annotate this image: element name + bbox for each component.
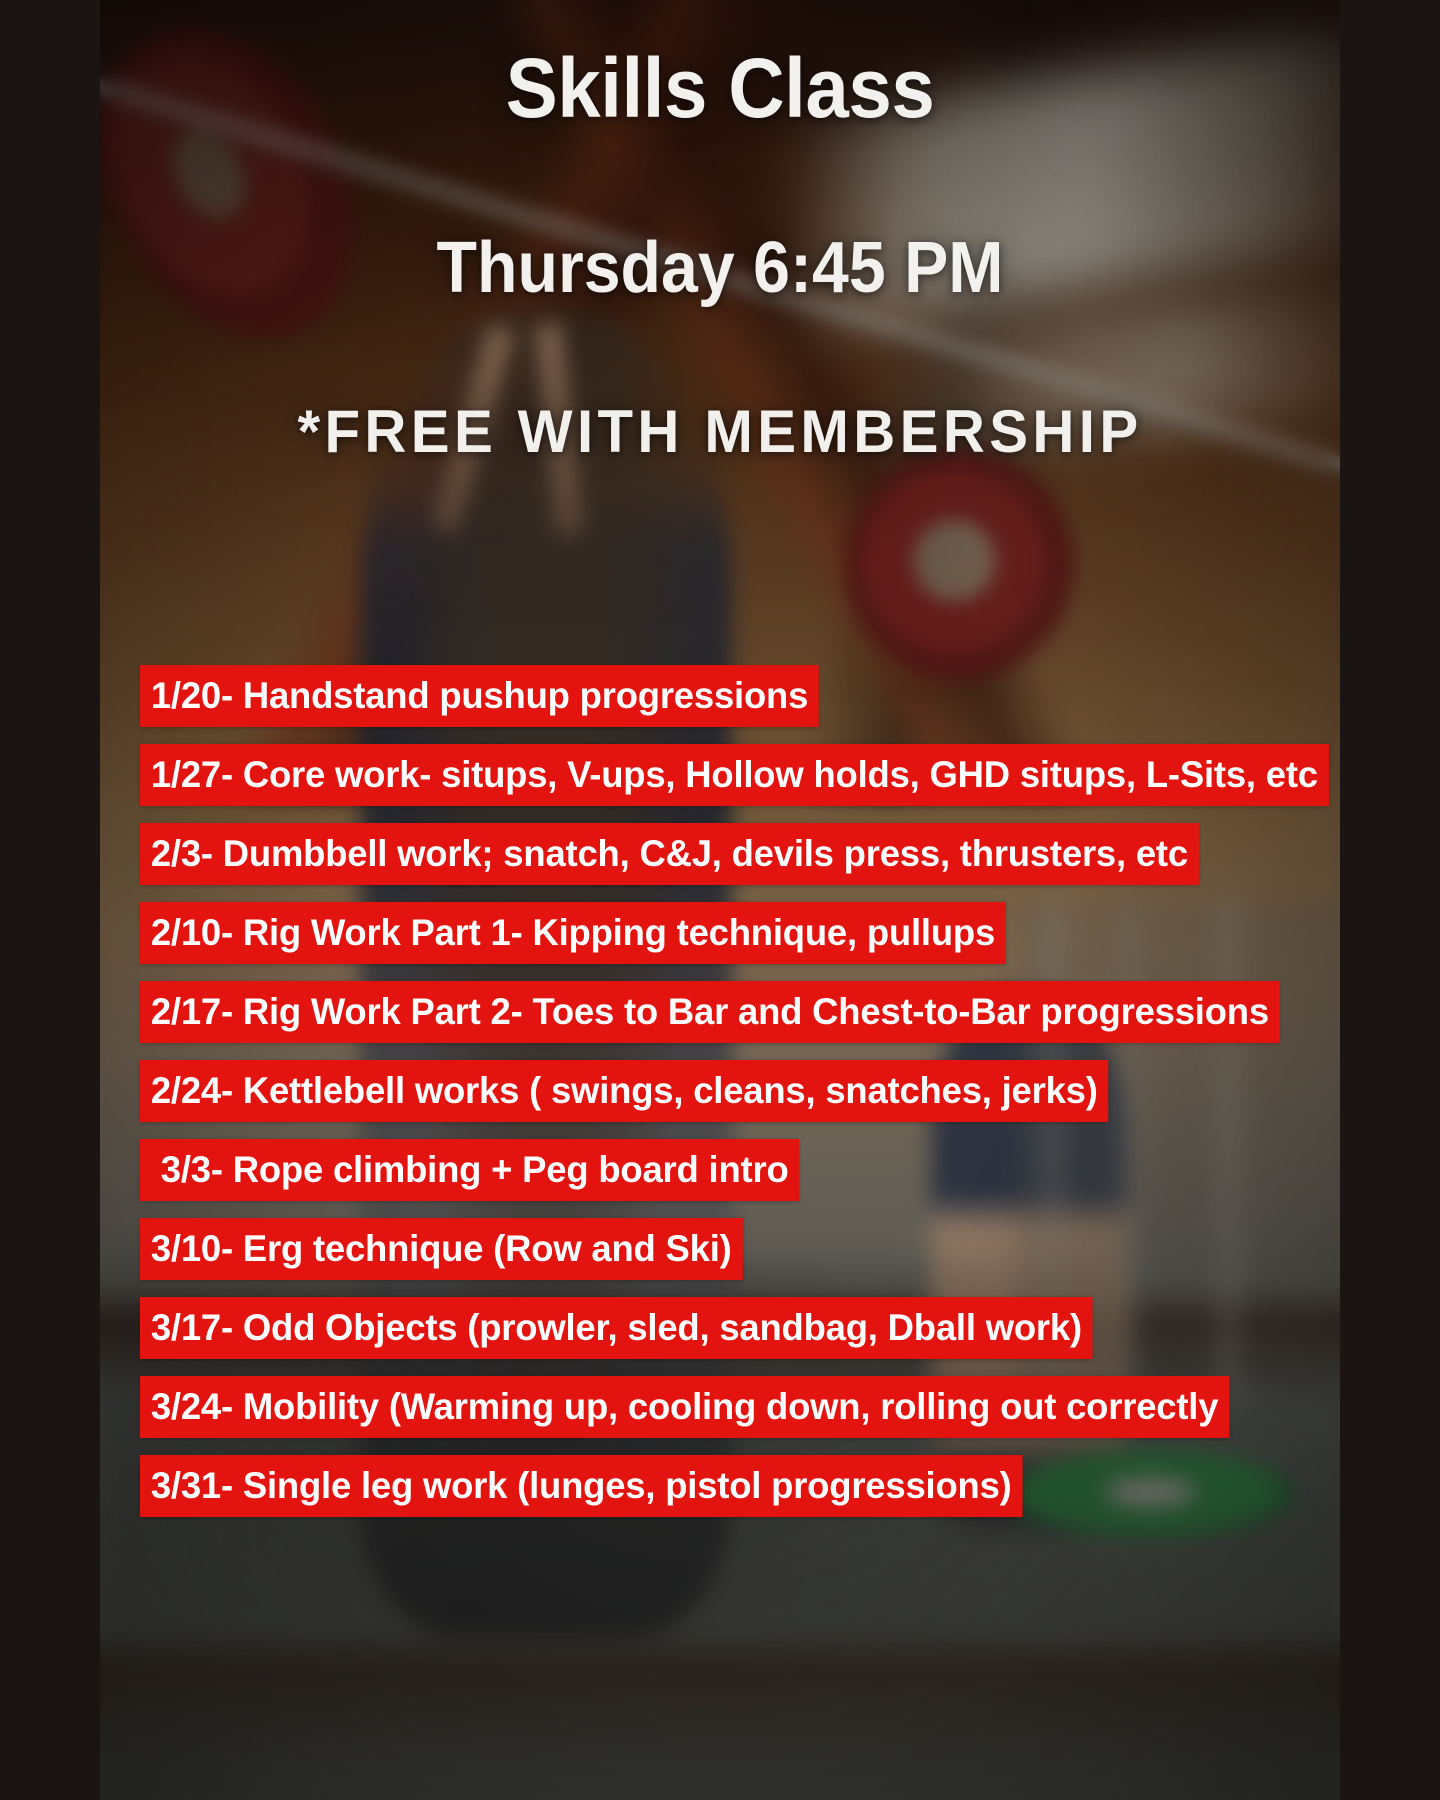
flyer-poster: Skills Class Thursday 6:45 PM *FREE WITH… (100, 0, 1340, 1800)
schedule-row-highlight: 3/17- Odd Objects (prowler, sled, sandba… (140, 1297, 1093, 1359)
schedule-row-highlight: 2/24- Kettlebell works ( swings, cleans,… (140, 1060, 1109, 1122)
schedule-row: 3/24- Mobility (Warming up, cooling down… (140, 1376, 1310, 1438)
headings-block: Skills Class Thursday 6:45 PM *FREE WITH… (100, 0, 1340, 462)
schedule-row-highlight: 2/10- Rig Work Part 1- Kipping technique… (140, 902, 1006, 964)
schedule-row-highlight: 3/10- Erg technique (Row and Ski) (140, 1218, 742, 1280)
schedule-row: 3/10- Erg technique (Row and Ski) (140, 1218, 1310, 1280)
schedule-row-highlight: 1/27- Core work- situps, V-ups, Hollow h… (140, 744, 1329, 806)
schedule-row: 3/17- Odd Objects (prowler, sled, sandba… (140, 1297, 1310, 1359)
schedule-row-highlight: 3/31- Single leg work (lunges, pistol pr… (140, 1455, 1022, 1517)
schedule-row: 2/24- Kettlebell works ( swings, cleans,… (140, 1060, 1310, 1122)
poster-content: Skills Class Thursday 6:45 PM *FREE WITH… (100, 0, 1340, 1800)
schedule-list: 1/20- Handstand pushup progressions1/27-… (140, 665, 1310, 1534)
class-time-subtitle: Thursday 6:45 PM (150, 232, 1291, 304)
schedule-row: 2/3- Dumbbell work; snatch, C&J, devils … (140, 823, 1310, 885)
schedule-row: 3/3- Rope climbing + Peg board intro (140, 1139, 1310, 1201)
schedule-row: 1/20- Handstand pushup progressions (140, 665, 1310, 727)
schedule-row: 2/17- Rig Work Part 2- Toes to Bar and C… (140, 981, 1310, 1043)
schedule-row-highlight: 2/3- Dumbbell work; snatch, C&J, devils … (140, 823, 1199, 885)
schedule-row: 3/31- Single leg work (lunges, pistol pr… (140, 1455, 1310, 1517)
membership-tagline: *FREE WITH MEMBERSHIP (119, 402, 1322, 462)
schedule-row-highlight: 2/17- Rig Work Part 2- Toes to Bar and C… (140, 981, 1280, 1043)
schedule-row-highlight: 1/20- Handstand pushup progressions (140, 665, 819, 727)
schedule-row-highlight: 3/3- Rope climbing + Peg board intro (140, 1139, 799, 1201)
page-title: Skills Class (143, 46, 1296, 130)
schedule-row: 1/27- Core work- situps, V-ups, Hollow h… (140, 744, 1310, 806)
schedule-row-highlight: 3/24- Mobility (Warming up, cooling down… (140, 1376, 1229, 1438)
schedule-row: 2/10- Rig Work Part 1- Kipping technique… (140, 902, 1310, 964)
